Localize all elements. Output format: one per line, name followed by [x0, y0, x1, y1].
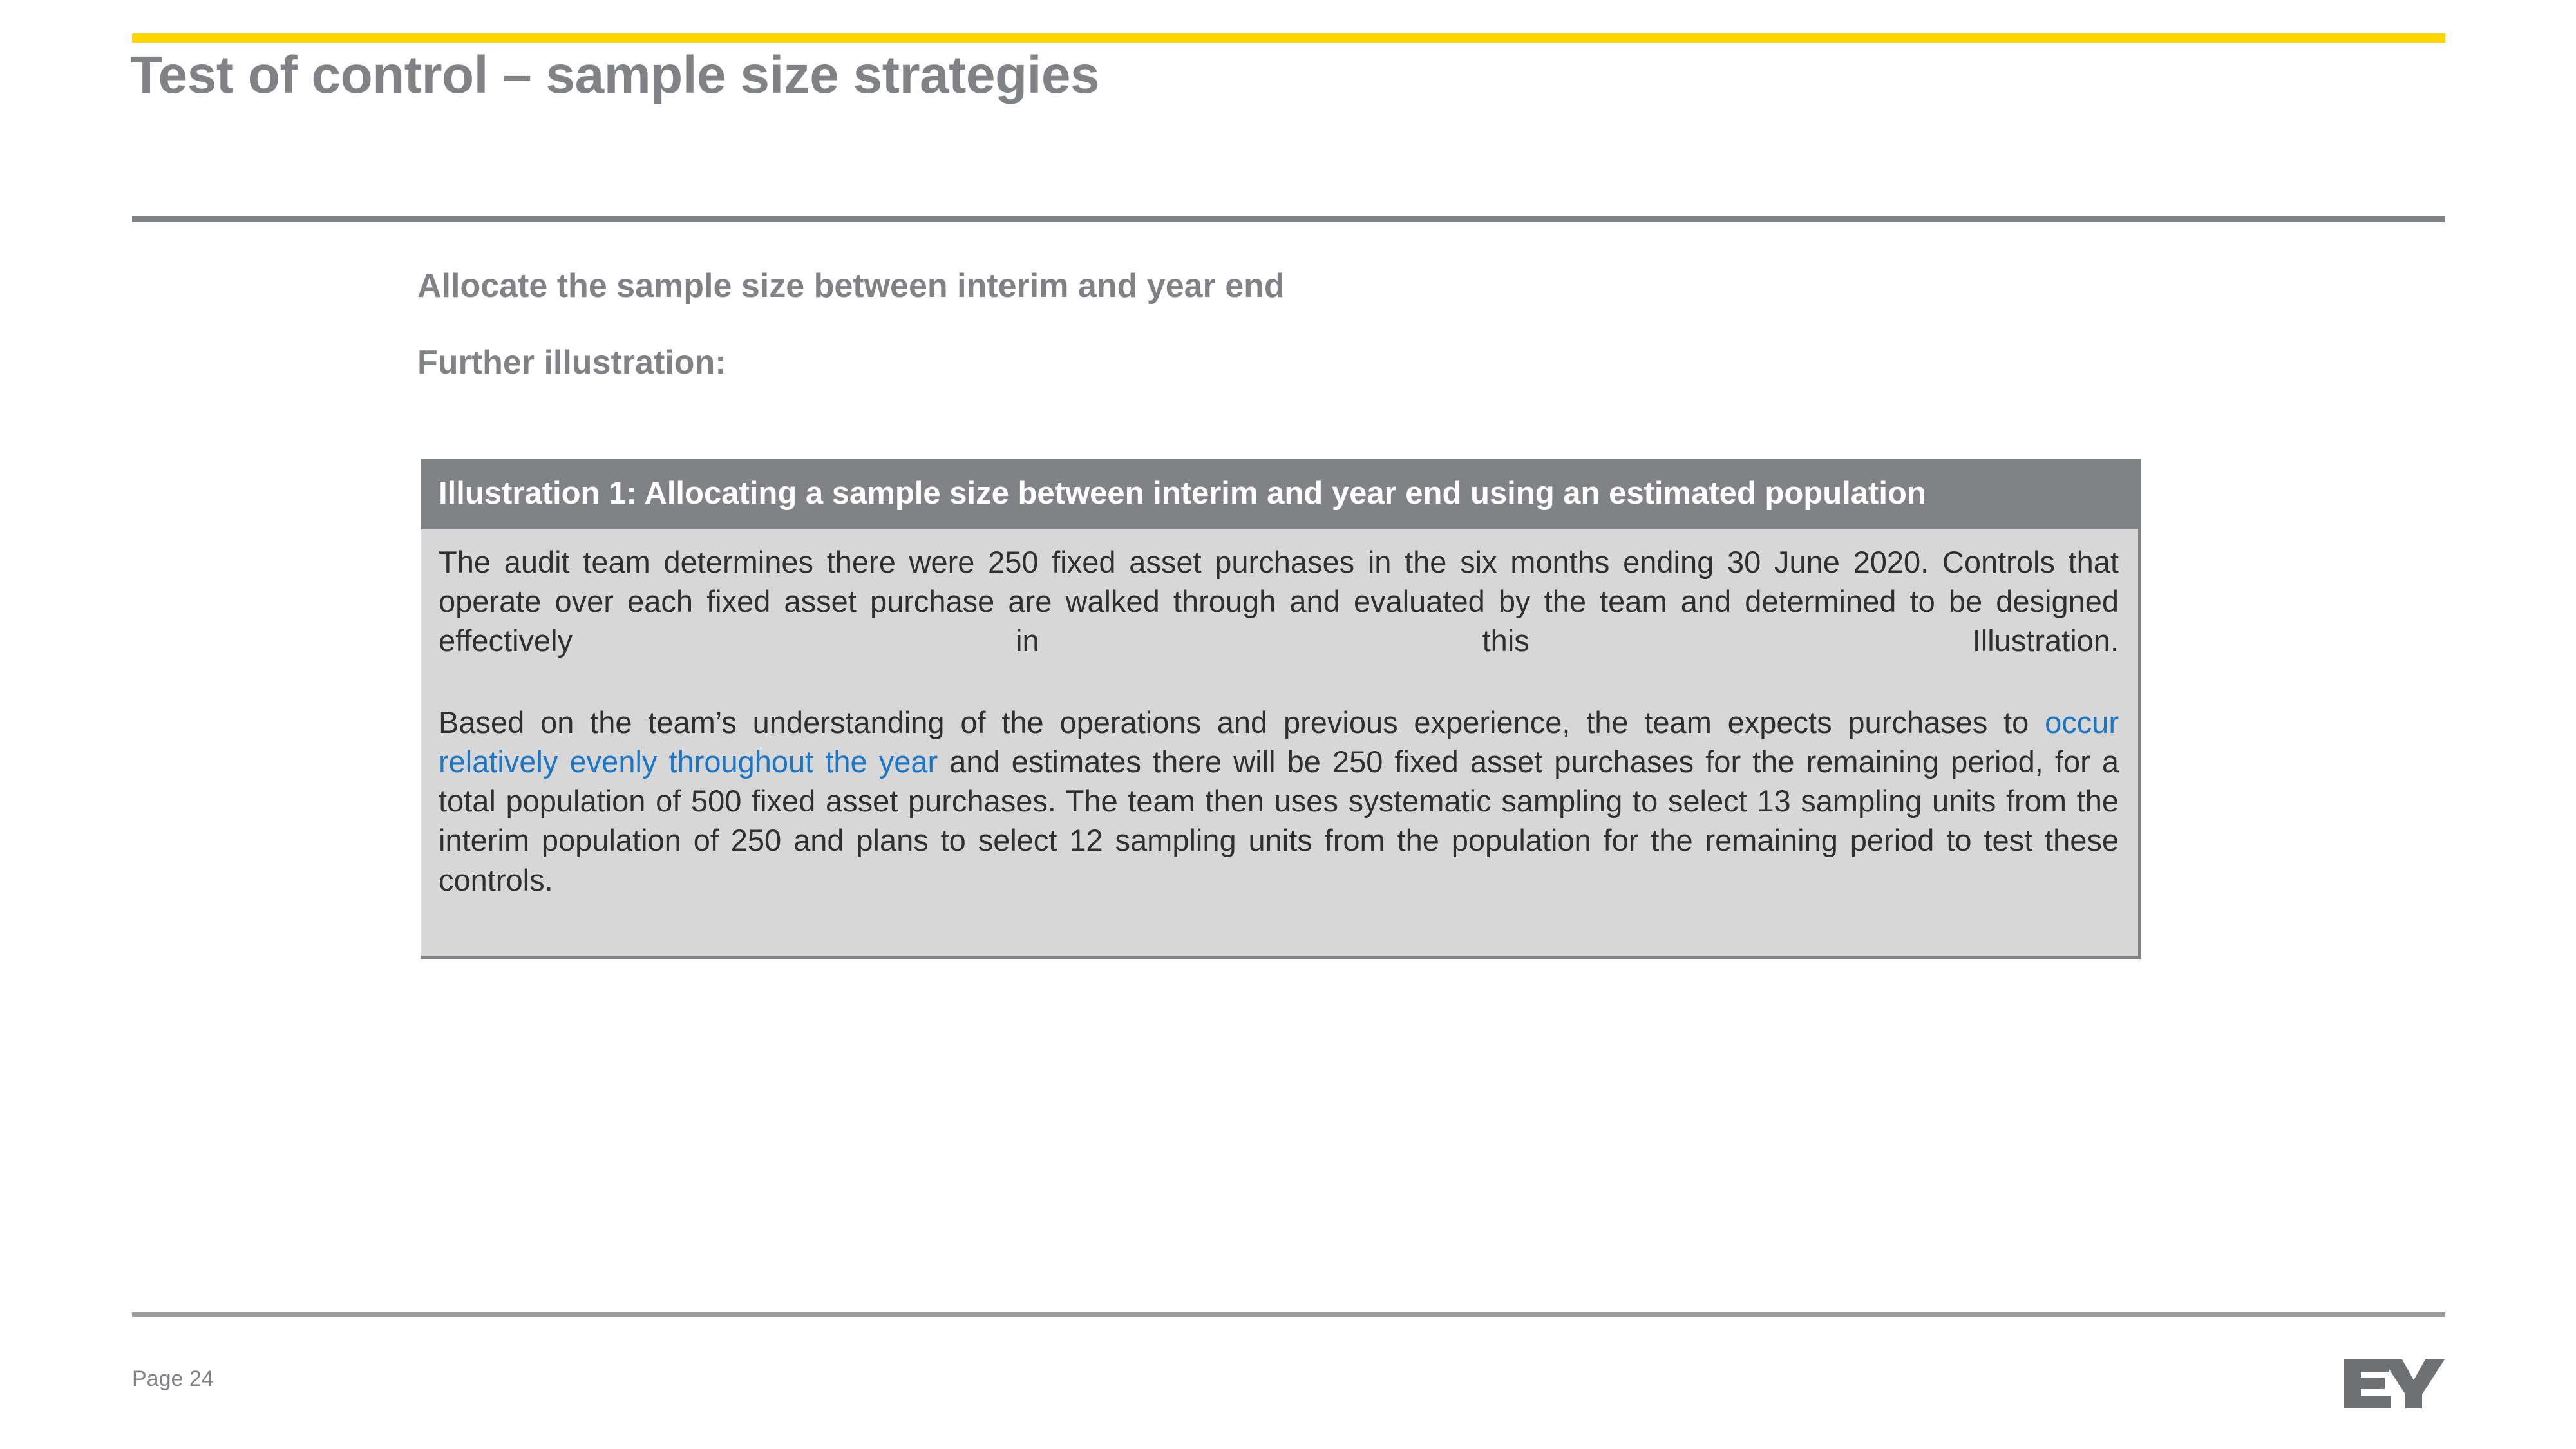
illustration-header: Illustration 1: Allocating a sample size… — [421, 459, 2138, 529]
page-number-label: Page 24 — [132, 1367, 214, 1392]
illustration-table: Illustration 1: Allocating a sample size… — [421, 459, 2141, 959]
page-title: Test of control – sample size strategies — [130, 46, 2320, 104]
lead-line-further-illustration: Further illustration: — [417, 346, 2285, 379]
paragraph-2-segment-1: Based on the team’s understanding of the… — [439, 705, 2045, 739]
footer-divider — [132, 1312, 2445, 1317]
illustration-paragraph-1: The audit team determines there were 250… — [439, 542, 2119, 699]
slide-canvas: Test of control – sample size strategies… — [0, 0, 2576, 1449]
title-divider — [132, 216, 2445, 222]
ey-logo-icon — [2344, 1357, 2460, 1411]
illustration-body: The audit team determines there were 250… — [421, 529, 2138, 956]
illustration-paragraph-2: Based on the team’s understanding of the… — [439, 703, 2119, 939]
lead-line-allocate: Allocate the sample size between interim… — [417, 269, 2285, 303]
lead-text-block: Allocate the sample size between interim… — [417, 269, 2285, 379]
top-accent-bar — [132, 33, 2445, 43]
